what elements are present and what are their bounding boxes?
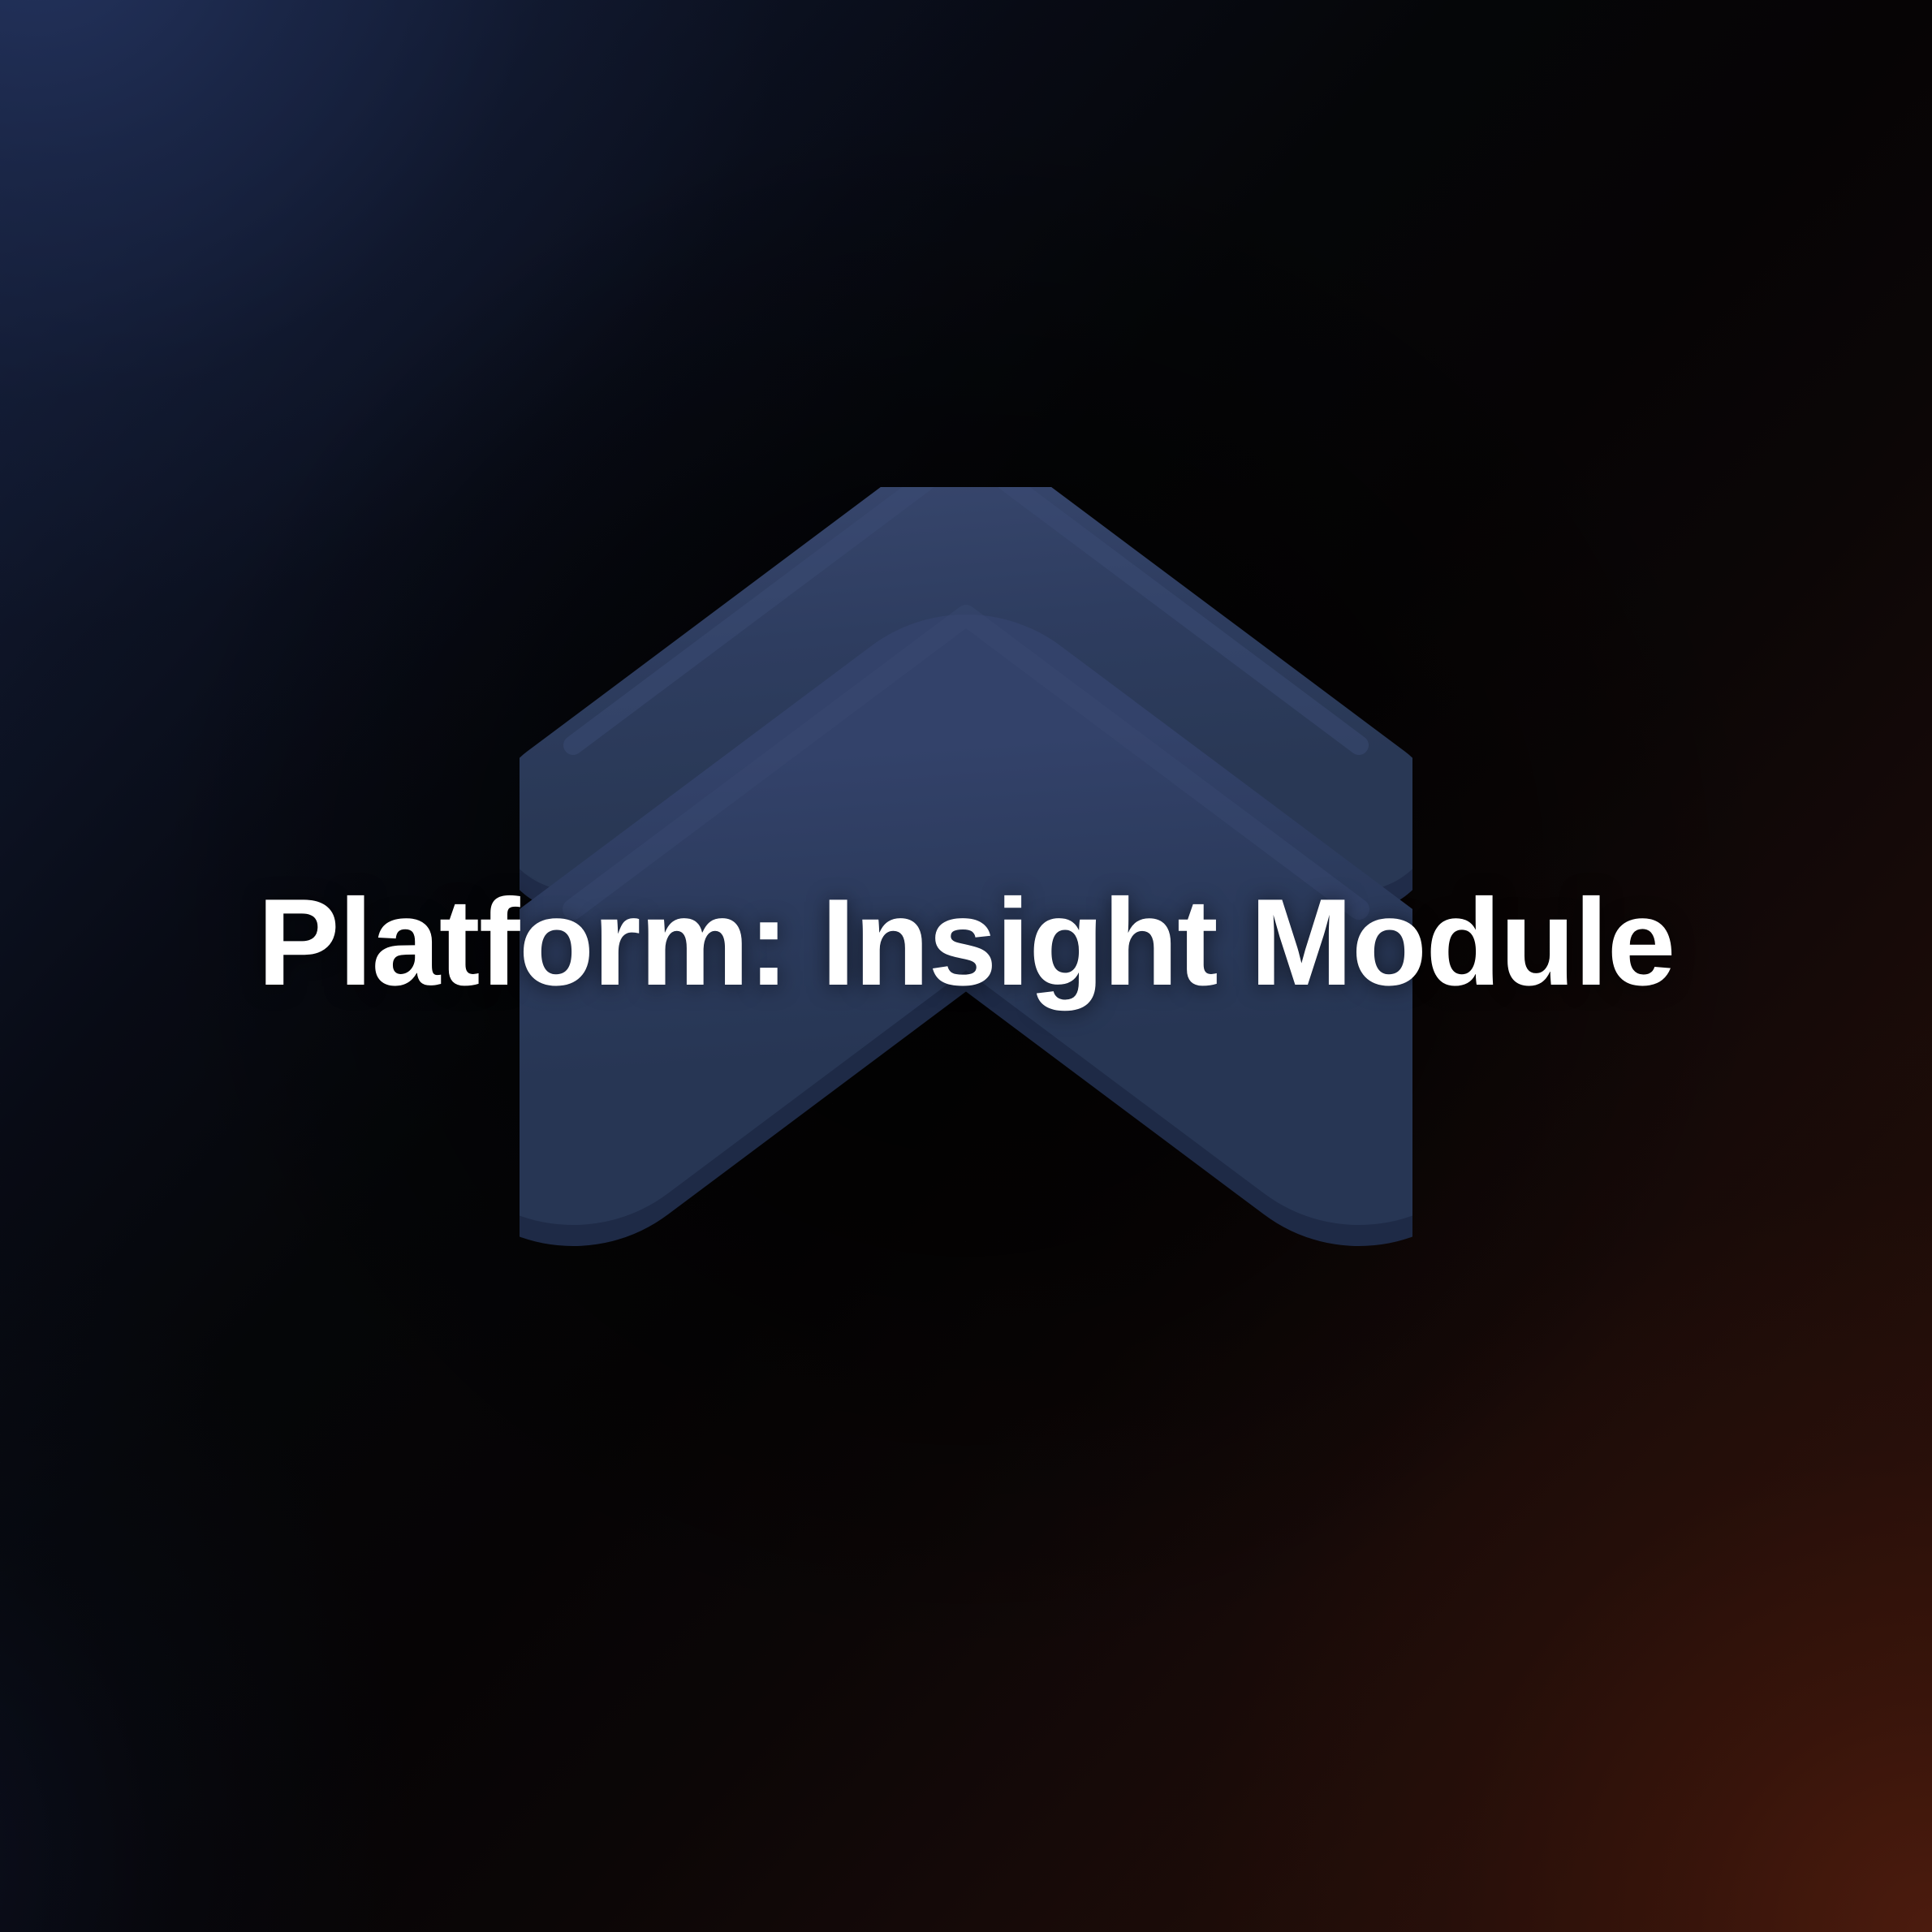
splash-screen: Platform: Insight Module (0, 0, 1932, 1932)
page-title: Platform: Insight Module (257, 881, 1675, 1004)
title-block: Platform: Insight Module (0, 881, 1932, 1004)
